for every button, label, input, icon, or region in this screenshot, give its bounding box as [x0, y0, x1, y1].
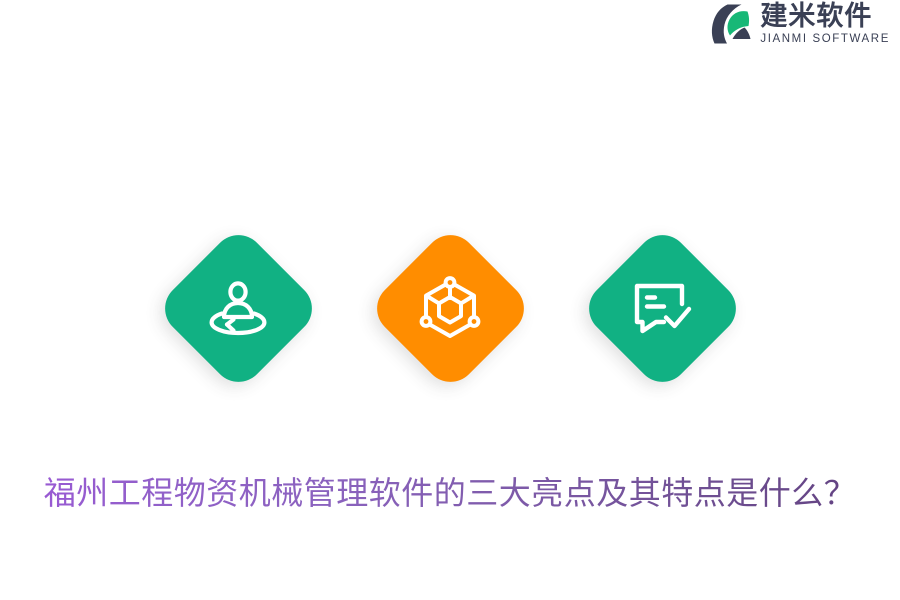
jianmi-logo-mark-icon [708, 1, 754, 47]
brand-subtitle: JIANMI SOFTWARE [760, 34, 890, 46]
feature-item-1[interactable] [154, 224, 322, 392]
feature-icon-row [0, 224, 900, 392]
brand-logo[interactable]: 建米软件 JIANMI SOFTWARE [708, 0, 890, 48]
brand-name: 建米软件 [760, 3, 890, 30]
feature-item-2[interactable] [366, 224, 534, 392]
feature-item-3[interactable] [578, 224, 746, 392]
hexagon-network-icon [414, 272, 486, 344]
user-orbit-icon [202, 272, 274, 344]
chat-check-icon [626, 272, 698, 344]
page-title: 福州工程物资机械管理软件的三大亮点及其特点是什么？ [0, 471, 900, 515]
brand-text-block: 建米软件 JIANMI SOFTWARE [760, 3, 890, 46]
